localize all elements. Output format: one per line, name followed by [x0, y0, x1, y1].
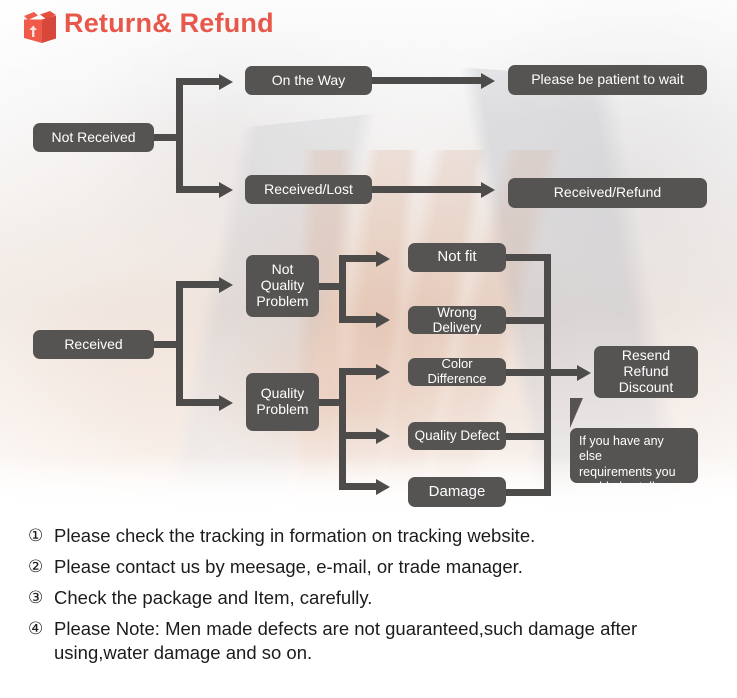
note-number: ① [28, 525, 43, 546]
list-item: ① Please check the tracking in formation… [28, 524, 737, 548]
note-text: Please Note: Men made defects are not gu… [54, 617, 734, 665]
connector-on-the-way-to-wait [372, 77, 482, 84]
node-on-the-way[interactable]: On the Way [245, 66, 372, 95]
arrow-to-not-fit [376, 251, 390, 267]
connector-to-on-the-way [176, 78, 220, 85]
arrow-to-received-lost [219, 182, 233, 198]
arrow-to-color-difference [376, 364, 390, 380]
node-wrong-delivery[interactable]: Wrong Delivery [408, 306, 506, 334]
arrow-to-resend-refund-discount [577, 365, 591, 381]
node-received[interactable]: Received [33, 330, 154, 359]
note-number: ③ [28, 587, 43, 608]
connector-received-bus [176, 281, 183, 406]
return-refund-infographic: Return& Refund Not Received On the Way P… [0, 0, 737, 698]
node-please-be-patient-to-wait[interactable]: Please be patient to wait [508, 65, 707, 95]
flowchart: Not Received On the Way Please be patien… [0, 0, 737, 520]
list-item: ④ Please Note: Men made defects are not … [28, 617, 737, 665]
connector-nqp-bus [339, 255, 346, 323]
list-item: ② Please contact us by meesage, e-mail, … [28, 555, 737, 579]
connector-received-lost-to-refund [372, 186, 482, 193]
list-item: ③ Check the package and Item, carefully. [28, 586, 737, 610]
connector-nqp-to-wrong-delivery [339, 316, 377, 323]
connector-qp-to-quality-defect [339, 432, 377, 439]
arrow-to-quality-problem [219, 395, 233, 411]
arrow-to-received-refund [481, 182, 495, 198]
arrow-to-damage [376, 479, 390, 495]
connector-qp-to-damage [339, 483, 377, 490]
arrow-to-not-quality-problem [219, 277, 233, 293]
note-number: ④ [28, 618, 43, 639]
callout-tail-icon [570, 398, 583, 428]
arrow-to-on-the-way [219, 74, 233, 90]
node-quality-defect[interactable]: Quality Defect [408, 422, 506, 450]
connector-to-received-lost [176, 186, 220, 193]
arrow-to-quality-defect [376, 428, 390, 444]
connector-bus-to-resend [544, 369, 578, 376]
node-received-refund[interactable]: Received/Refund [508, 178, 707, 208]
connector-qp-bus [339, 368, 346, 490]
node-damage[interactable]: Damage [408, 477, 506, 507]
node-quality-problem[interactable]: Quality Problem [246, 373, 319, 431]
connector-to-not-quality-problem [176, 281, 220, 288]
else-requirements-callout[interactable]: If you have any else requirements you co… [570, 428, 698, 483]
notes-list: ① Please check the tracking in formation… [0, 524, 737, 672]
connector-qp-to-color-difference [339, 368, 377, 375]
connector-nqp-to-not-fit [339, 255, 377, 262]
connector-to-quality-problem [176, 399, 220, 406]
node-resend-refund-discount[interactable]: Resend Refund Discount [594, 346, 698, 398]
connector-not-received-bus [176, 78, 183, 193]
note-text: Please check the tracking in formation o… [54, 524, 535, 548]
node-not-fit[interactable]: Not fit [408, 243, 506, 272]
note-number: ② [28, 556, 43, 577]
arrow-to-please-be-patient [481, 73, 495, 89]
node-not-received[interactable]: Not Received [33, 123, 154, 152]
node-not-quality-problem[interactable]: Not Quality Problem [246, 255, 319, 317]
node-received-lost[interactable]: Received/Lost [245, 175, 372, 204]
node-color-difference[interactable]: Color Difference [408, 358, 506, 386]
arrow-to-wrong-delivery [376, 312, 390, 328]
note-text: Check the package and Item, carefully. [54, 586, 372, 610]
note-text: Please contact us by meesage, e-mail, or… [54, 555, 523, 579]
